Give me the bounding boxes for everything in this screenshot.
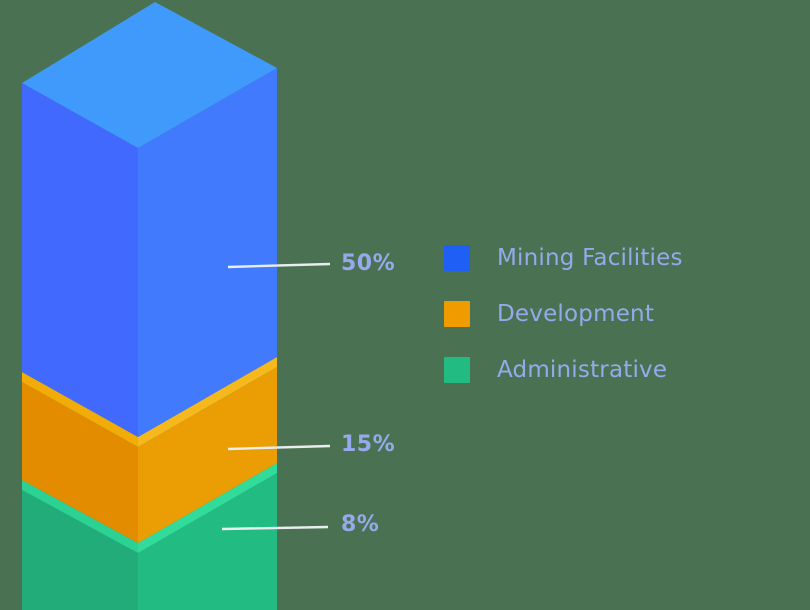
callout-label-administrative: 8% <box>341 512 379 537</box>
legend-swatch-mining-facilities <box>444 245 470 271</box>
callout-label-mining-facilities: 50% <box>341 251 395 276</box>
legend: Mining Facilities Development Administra… <box>444 230 754 398</box>
legend-label-administrative: Administrative <box>497 357 667 383</box>
legend-label-mining-facilities: Mining Facilities <box>497 245 683 271</box>
chart-canvas: 50% 15% 8% Mining Facilities Development… <box>0 0 810 610</box>
legend-item-administrative[interactable]: Administrative <box>444 342 754 398</box>
callout-label-development: 15% <box>341 432 395 457</box>
legend-swatch-administrative <box>444 357 470 383</box>
legend-item-mining-facilities[interactable]: Mining Facilities <box>444 230 754 286</box>
legend-swatch-development <box>444 301 470 327</box>
bar-segment-mining-facilities[interactable] <box>22 2 277 437</box>
legend-item-development[interactable]: Development <box>444 286 754 342</box>
legend-label-development: Development <box>497 301 654 327</box>
